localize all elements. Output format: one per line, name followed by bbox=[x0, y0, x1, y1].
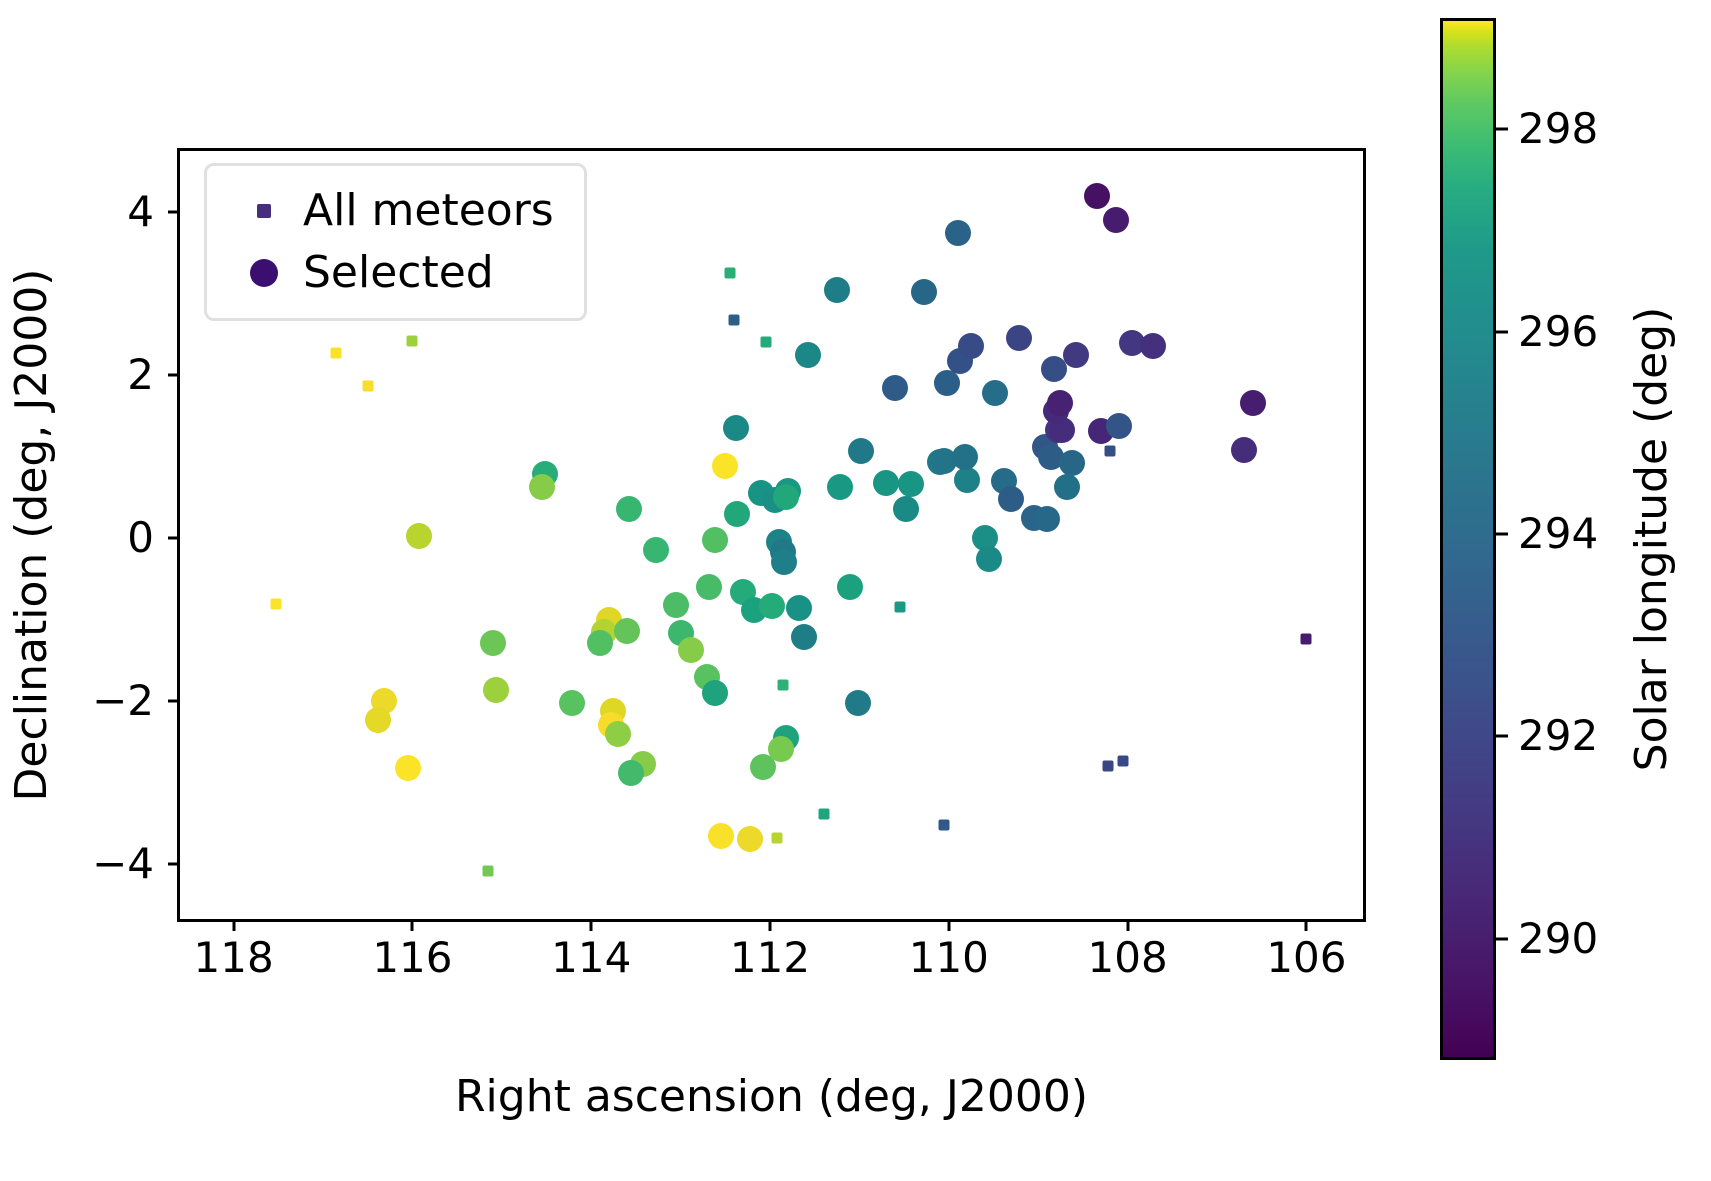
y-tick-mark bbox=[168, 699, 180, 702]
data-point-selected bbox=[1231, 437, 1257, 463]
data-point-selected bbox=[958, 333, 984, 359]
x-tick-label: 112 bbox=[730, 937, 810, 979]
data-point-selected bbox=[678, 637, 704, 663]
data-point-all-meteor bbox=[270, 598, 281, 609]
colorbar-tick-mark bbox=[1496, 735, 1508, 738]
data-point-selected bbox=[618, 760, 644, 786]
data-point-selected bbox=[873, 470, 899, 496]
data-point-selected bbox=[1063, 342, 1089, 368]
data-point-selected bbox=[559, 690, 585, 716]
data-point-selected bbox=[998, 486, 1024, 512]
data-point-all-meteor bbox=[760, 337, 771, 348]
legend-label-all-meteors: All meteors bbox=[303, 189, 554, 233]
colorbar-gradient bbox=[1440, 18, 1496, 1060]
data-point-selected bbox=[759, 593, 785, 619]
data-point-selected bbox=[702, 527, 728, 553]
x-tick-label: 114 bbox=[551, 937, 631, 979]
data-point-selected bbox=[898, 471, 924, 497]
colorbar-label: Solar longitude (deg) bbox=[1630, 18, 1686, 1060]
x-tick-label: 116 bbox=[372, 937, 452, 979]
data-point-selected bbox=[827, 474, 853, 500]
data-point-selected bbox=[480, 630, 506, 656]
data-point-selected bbox=[1006, 325, 1032, 351]
legend-entry-all-meteors: All meteors bbox=[225, 180, 554, 242]
data-point-all-meteor bbox=[407, 335, 418, 346]
data-point-selected bbox=[911, 279, 937, 305]
data-point-selected bbox=[1047, 390, 1073, 416]
data-point-selected bbox=[945, 220, 971, 246]
data-point-all-meteor bbox=[1118, 756, 1129, 767]
data-point-selected bbox=[1140, 333, 1166, 359]
data-point-selected bbox=[893, 496, 919, 522]
x-axis-label: Right ascension (deg, J2000) bbox=[177, 1075, 1366, 1119]
data-point-selected bbox=[1054, 474, 1080, 500]
data-point-selected bbox=[845, 690, 871, 716]
y-tick-mark bbox=[168, 211, 180, 214]
y-tick-label: 2 bbox=[127, 354, 154, 396]
data-point-selected bbox=[1103, 207, 1129, 233]
colorbar-tick-mark bbox=[1496, 128, 1508, 131]
data-point-selected bbox=[737, 826, 763, 852]
x-tick-mark bbox=[769, 919, 772, 931]
data-point-selected bbox=[773, 484, 799, 510]
data-point-all-meteor bbox=[483, 866, 494, 877]
data-point-all-meteor bbox=[939, 819, 950, 830]
legend-circle-swatch bbox=[250, 259, 278, 287]
data-point-selected bbox=[837, 574, 863, 600]
data-point-selected bbox=[708, 823, 734, 849]
y-tick-label: −2 bbox=[92, 680, 154, 722]
data-point-selected bbox=[643, 537, 669, 563]
data-point-selected bbox=[954, 467, 980, 493]
data-point-selected bbox=[795, 342, 821, 368]
legend-label-selected: Selected bbox=[303, 251, 494, 295]
colorbar-tick-label: 290 bbox=[1518, 918, 1598, 960]
y-tick-label: −4 bbox=[92, 843, 154, 885]
data-point-all-meteor bbox=[331, 348, 342, 359]
data-point-selected bbox=[976, 546, 1002, 572]
data-point-selected bbox=[768, 736, 794, 762]
y-tick-label: 4 bbox=[127, 191, 154, 233]
colorbar-tick-label: 296 bbox=[1518, 311, 1598, 353]
data-point-selected bbox=[723, 415, 749, 441]
data-point-all-meteor bbox=[362, 381, 373, 392]
data-point-selected bbox=[614, 618, 640, 644]
data-point-selected bbox=[1034, 506, 1060, 532]
data-point-selected bbox=[696, 574, 722, 600]
y-tick-mark bbox=[168, 374, 180, 377]
data-point-selected bbox=[1059, 450, 1085, 476]
data-point-all-meteor bbox=[818, 809, 829, 820]
scatter-figure: 118116114112110108106 420−2−4 All meteor… bbox=[0, 0, 1711, 1181]
x-tick-mark bbox=[1305, 919, 1308, 931]
x-tick-label: 108 bbox=[1088, 937, 1168, 979]
legend-marker-circle-icon bbox=[225, 259, 303, 287]
x-tick-mark bbox=[232, 919, 235, 931]
x-tick-mark bbox=[590, 919, 593, 931]
data-point-all-meteor bbox=[778, 679, 789, 690]
x-tick-label: 110 bbox=[909, 937, 989, 979]
x-tick-mark bbox=[947, 919, 950, 931]
data-point-selected bbox=[663, 592, 689, 618]
data-point-selected bbox=[848, 438, 874, 464]
legend: All meteors Selected bbox=[204, 163, 587, 321]
data-point-all-meteor bbox=[1102, 761, 1113, 772]
data-point-selected bbox=[406, 523, 432, 549]
data-point-all-meteor bbox=[724, 268, 735, 279]
y-axis-label: Declination (deg, J2000) bbox=[10, 148, 66, 922]
legend-square-swatch bbox=[257, 204, 271, 218]
colorbar-tick-mark bbox=[1496, 937, 1508, 940]
data-point-all-meteor bbox=[729, 314, 740, 325]
data-point-selected bbox=[712, 453, 738, 479]
data-point-selected bbox=[786, 595, 812, 621]
data-point-selected bbox=[982, 380, 1008, 406]
data-point-selected bbox=[483, 677, 509, 703]
data-point-selected bbox=[952, 444, 978, 470]
data-point-all-meteor bbox=[1301, 634, 1312, 645]
colorbar: 290292294296298 bbox=[1440, 18, 1496, 1060]
x-tick-mark bbox=[1126, 919, 1129, 931]
data-point-selected bbox=[587, 630, 613, 656]
data-point-selected bbox=[529, 474, 555, 500]
colorbar-tick-label: 292 bbox=[1518, 715, 1598, 757]
data-point-selected bbox=[702, 680, 728, 706]
data-point-selected bbox=[824, 277, 850, 303]
legend-entry-selected: Selected bbox=[225, 242, 554, 304]
x-tick-label: 106 bbox=[1266, 937, 1346, 979]
data-point-all-meteor bbox=[894, 602, 905, 613]
plot-axes: 118116114112110108106 420−2−4 All meteor… bbox=[177, 148, 1366, 922]
data-point-selected bbox=[724, 501, 750, 527]
data-point-selected bbox=[882, 375, 908, 401]
data-point-selected bbox=[1084, 183, 1110, 209]
legend-marker-square-icon bbox=[225, 204, 303, 218]
data-point-selected bbox=[365, 707, 391, 733]
data-point-selected bbox=[616, 496, 642, 522]
data-point-all-meteor bbox=[1104, 445, 1115, 456]
data-point-selected bbox=[1106, 413, 1132, 439]
y-tick-label: 0 bbox=[127, 517, 154, 559]
data-point-all-meteor bbox=[772, 832, 783, 843]
data-point-selected bbox=[771, 549, 797, 575]
x-tick-mark bbox=[411, 919, 414, 931]
y-tick-mark bbox=[168, 537, 180, 540]
data-point-selected bbox=[1240, 390, 1266, 416]
data-point-selected bbox=[791, 624, 817, 650]
data-point-selected bbox=[934, 370, 960, 396]
data-point-selected bbox=[605, 721, 631, 747]
data-point-selected bbox=[395, 755, 421, 781]
y-tick-mark bbox=[168, 862, 180, 865]
colorbar-tick-label: 298 bbox=[1518, 108, 1598, 150]
colorbar-tick-mark bbox=[1496, 532, 1508, 535]
colorbar-tick-label: 294 bbox=[1518, 513, 1598, 555]
colorbar-tick-mark bbox=[1496, 330, 1508, 333]
x-tick-label: 118 bbox=[194, 937, 274, 979]
